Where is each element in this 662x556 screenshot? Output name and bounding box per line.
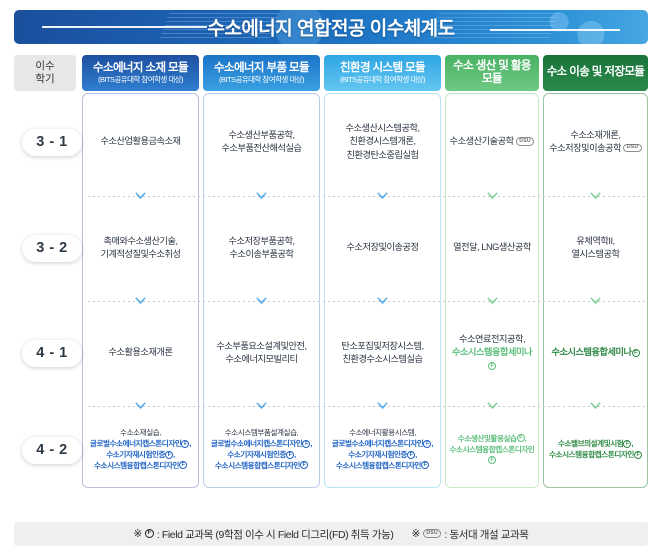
course-name: 수소저장및이송공정 [346,242,418,252]
course-cell-r3-c3: 탄소포집및저장시스템,친환경수소시스템실습 [324,307,441,399]
course-line: 수소생산시스템공학, [345,122,419,135]
course-line: 수소부품요소설계및안전, [216,340,306,353]
module-header-subtitle-1: (BITS공유대학 참여학생 대상) [98,76,183,84]
course-line: 수소산업활용금속소재 [100,135,180,148]
course-name: 기계적성질및수소취성 [100,249,180,259]
course-line: 수소시스템융합캡스톤디자인F [211,461,312,472]
module-header-title-4: 수소 생산 및 활용 모듈 [447,60,537,86]
course-name: 수소생산및활용실습 [458,434,517,443]
course-cell-r2-c2: 수소저장부품공학,수소이송부품공학 [203,202,320,294]
course-name: 수소부품요소설계및안전, [216,341,306,351]
course-cell-r3-c4: 수소연료전지공학,수소시스템융합세미나F [445,307,539,399]
course-cell-r2-c4: 열전달, LNG생산공학 [445,202,539,294]
flow-chevron-icon [590,297,601,306]
row-divider-3 [88,406,648,407]
course-name: 수소시스템융합세미나 [551,347,631,357]
course-name: 수소생산기술공학 [450,136,514,146]
course-name: 수소부품전산해석실습 [221,143,301,153]
flow-chevron-icon [590,192,601,201]
course-line: 수소저장및이송공정 [346,241,418,254]
course-cell-inner: 수소소재실습,글로벌수소에너지캡스톤디자인F,수소기자재시험인증F,수소시스템융… [90,428,191,471]
course-cell-r4-c3: 수소에너지활용시스템,글로벌수소에너지캡스톤디자인F,수소기자재시험인증F,수소… [324,412,441,488]
field-mark-icon: F [517,434,525,442]
course-name: 수소시스템융합캡스톤디자인 [215,461,300,470]
course-line: 친환경시스템개론, [345,135,419,148]
dsu-badge-icon: DSU [516,137,535,145]
course-line: 친환경탄소중립실험 [345,149,419,162]
module-header-subtitle-2: (BITS공유대학 참여학생 대상) [219,76,304,84]
course-name: 촉매와수소생산기술, [103,236,177,246]
course-name: 수소시스템융합캡스톤디자인 [450,445,535,454]
legend-star-1: ※ [133,528,141,540]
course-cell-r4-c4: 수소생산및활용실습F,수소시스템융합캡스톤디자인F [445,412,539,488]
course-cell-inner: 촉매와수소생산기술,기계적성질및수소취성 [100,235,180,261]
legend-field-text: : Field 교과목 (9학점 이수 시 Field 디그리(FD) 취득 가… [157,527,394,542]
course-name: 수소소재실습, [120,428,161,437]
course-line: 수소시스템융합세미나F [448,346,536,372]
course-name: 수소에너지모빌리티 [225,354,297,364]
row-divider-1 [88,196,648,197]
semester-pill-3-1: 3 - 1 [22,129,82,156]
course-name: 수소시스템융합캡스톤디자인 [94,461,179,470]
semester-header-cell: 이수 학기 [14,55,76,91]
course-line: 수소에너지활용시스템, [332,428,433,439]
course-name: 수소시스템융합세미나 [452,347,532,357]
legend-star-2: ※ [411,528,419,540]
course-cell-inner: 열전달, LNG생산공학 [453,241,531,254]
course-line: 수소연료전지공학, [448,333,536,346]
dsu-badge-icon: DSU [423,529,442,537]
course-cell-inner: 수소시스템융합세미나F [551,346,639,359]
legend-bar: ※ F : Field 교과목 (9학점 이수 시 Field 디그리(FD) … [14,522,648,546]
flow-chevron-icon [256,297,267,306]
field-mark-icon: F [421,461,429,469]
module-header-title-1: 수소에너지 소재 모듈 [93,62,188,75]
module-header-4[interactable]: 수소 생산 및 활용 모듈 [445,55,539,91]
module-header-row: 이수 학기 수소에너지 소재 모듈(BITS공유대학 참여학생 대상)수소에너지… [14,55,648,91]
flow-chevron-icon [135,192,146,201]
course-cell-inner: 수소생산기술공학 DSU [450,135,535,148]
course-name: 글로벌수소에너지캡스톤디자인 [332,439,424,448]
title-banner: 수소에너지 연합전공 이수체계도 [14,10,648,44]
field-mark-icon: F [300,461,308,469]
course-cell-inner: 탄소포집및저장시스템,친환경수소시스템실습 [341,340,423,366]
course-cell-r1-c4: 수소생산기술공학 DSU [445,96,539,188]
course-line: 글로벌수소에너지캡스톤디자인F, [90,439,191,450]
course-cell-r3-c2: 수소부품요소설계및안전,수소에너지모빌리티 [203,307,320,399]
module-header-title-2: 수소에너지 부품 모듈 [214,62,309,75]
field-mark-icon: F [286,451,294,459]
course-line: 친환경수소시스템실습 [341,353,423,366]
course-cell-inner: 수소생산및활용실습F,수소시스템융합캡스톤디자인F [448,434,536,466]
legend-dsu-text: : 동서대 개설 교과목 [444,527,528,542]
course-name: 친환경탄소중립실험 [346,150,418,160]
course-name: 수소에너지활용시스템, [349,428,416,437]
course-line: 수소소재개론, [549,129,642,142]
course-line: 수소시스템융합캡스톤디자인F [90,461,191,472]
course-line: 유체역학II, [571,235,619,248]
course-line: 수소저장부품공학, [228,235,294,248]
semester-header-line1: 이수 [35,60,54,73]
field-mark-icon: F [165,451,173,459]
curriculum-diagram: 수소에너지 연합전공 이수체계도 이수 학기 수소에너지 소재 모듈(BITS공… [0,0,662,556]
course-line: 수소기자재시험인증F, [332,450,433,461]
course-name: 수소소재개론, [570,130,620,140]
course-name: 열시스템공학 [571,249,619,259]
course-cell-r2-c3: 수소저장및이송공정 [324,202,441,294]
course-cell-r1-c3: 수소생산시스템공학,친환경시스템개론,친환경탄소중립실험 [324,96,441,188]
flow-chevron-icon [487,192,498,201]
flow-chevron-icon [256,402,267,411]
course-cell-r1-c2: 수소생산부품공학,수소부품전산해석실습 [203,96,320,188]
course-cell-r1-c5: 수소소재개론,수소저장및이송공학 DSU [543,96,648,188]
course-name: 친환경시스템개론, [349,136,415,146]
course-line: 탄소포집및저장시스템, [341,340,423,353]
course-name: 수소기자재시험인증 [227,450,286,459]
course-line: 촉매와수소생산기술, [100,235,180,248]
flow-chevron-icon [377,297,388,306]
course-cell-r2-c1: 촉매와수소생산기술,기계적성질및수소취성 [82,202,199,294]
course-name: 수소생산부품공학, [228,130,294,140]
course-line: 수소시스템부품설계실습, [211,428,312,439]
field-mark-icon: F [145,529,154,538]
flow-chevron-icon [377,402,388,411]
course-cell-inner: 수소저장부품공학,수소이송부품공학 [228,235,294,261]
course-cell-inner: 수소시스템부품설계실습,글로벌수소에너지캡스톤디자인F,수소기자재시험인증F,수… [211,428,312,471]
course-comma: , [415,450,417,459]
course-name: 수소산업활용금속소재 [100,136,180,146]
course-name: 수소시스템융합캡스톤디자인 [336,461,421,470]
course-line: 수소시스템융합캡스톤디자인F [448,445,536,467]
course-cell-inner: 유체역학II,열시스템공학 [571,235,619,261]
course-cell-inner: 수소산업활용금속소재 [100,135,180,148]
flow-chevron-icon [487,297,498,306]
field-mark-icon: F [488,456,496,464]
course-line: 수소시스템융합캡스톤디자인F [332,461,433,472]
semester-pill-4-1: 4 - 1 [22,340,82,367]
course-comma: , [294,450,296,459]
course-line: 수소생산및활용실습F, [448,434,536,445]
course-name: 수소시스템부품설계실습, [225,428,299,437]
course-name: 수소저장부품공학, [228,236,294,246]
course-line: 글로벌수소에너지캡스톤디자인F, [332,439,433,450]
course-line: 수소기자재시험인증F, [211,450,312,461]
course-name: 탄소포집및저장시스템, [341,341,423,351]
course-comma: , [173,450,175,459]
course-cell-inner: 수소생산부품공학,수소부품전산해석실습 [221,129,301,155]
course-cell-inner: 수소밸브의설계및시험F,수소시스템융합캡스톤디자인F [549,439,642,461]
course-cell-r4-c1: 수소소재실습,글로벌수소에너지캡스톤디자인F,수소기자재시험인증F,수소시스템융… [82,412,199,488]
module-header-5[interactable]: 수소 이송 및 저장모듈 [543,55,648,91]
course-cell-inner: 수소생산시스템공학,친환경시스템개론,친환경탄소중립실험 [345,122,419,161]
field-mark-icon: F [488,362,496,370]
course-line: 수소활용소재개론 [108,346,172,359]
semester-pill-4-2: 4 - 2 [22,437,82,464]
module-header-1[interactable]: 수소에너지 소재 모듈(BITS공유대학 참여학생 대상) [82,55,199,91]
legend-dsu-item: ※ DSU : 동서대 개설 교과목 [411,527,528,542]
course-name: 수소저장및이송공학 [549,143,621,153]
course-name: 글로벌수소에너지캡스톤디자인 [90,439,182,448]
course-cell-r1-c1: 수소산업활용금속소재 [82,96,199,188]
course-name: 열전달, LNG생산공학 [453,242,531,252]
course-line: 수소시스템융합세미나F [551,346,639,359]
course-name: 수소밸브의설계및시험 [558,439,623,448]
course-line: 기계적성질및수소취성 [100,248,180,261]
flow-chevron-icon [590,402,601,411]
course-name: 유체역학II, [576,236,614,246]
flow-chevron-icon [256,192,267,201]
course-name: 수소연료전지공학, [459,334,525,344]
course-name: 수소시스템융합캡스톤디자인 [549,450,634,459]
row-divider-2 [88,301,648,302]
module-header-3[interactable]: 친환경 시스템 모듈(BITS공유대학 참여학생 대상) [324,55,441,91]
module-header-subtitle-3: (BITS공유대학 참여학생 대상) [340,76,425,84]
course-comma: , [525,434,527,443]
course-name: 수소활용소재개론 [108,347,172,357]
course-cell-r3-c1: 수소활용소재개론 [82,307,199,399]
course-name: 수소기자재시험인증 [106,450,165,459]
course-line: 수소기자재시험인증F, [90,450,191,461]
field-mark-icon: F [179,461,187,469]
course-comma: , [189,439,191,448]
course-name: 수소기자재시험인증 [348,450,407,459]
course-line: 수소에너지모빌리티 [216,353,306,366]
course-name: 글로벌수소에너지캡스톤디자인 [211,439,303,448]
field-mark-icon: F [632,349,640,357]
course-line: 수소저장및이송공학 DSU [549,142,642,155]
flow-chevron-icon [377,192,388,201]
course-name: 수소이송부품공학 [229,249,293,259]
course-line: 수소생산기술공학 DSU [450,135,535,148]
course-line: 열시스템공학 [571,248,619,261]
module-header-title-3: 친환경 시스템 모듈 [340,62,425,75]
course-name: 수소생산시스템공학, [345,123,419,133]
course-cell-r4-c2: 수소시스템부품설계실습,글로벌수소에너지캡스톤디자인F,수소기자재시험인증F,수… [203,412,320,488]
course-cell-inner: 수소소재개론,수소저장및이송공학 DSU [549,129,642,155]
field-mark-icon: F [634,451,642,459]
course-name: 친환경수소시스템실습 [342,354,422,364]
course-cell-r3-c5: 수소시스템융합세미나F [543,307,648,399]
course-line: 수소이송부품공학 [228,248,294,261]
course-comma: , [431,439,433,448]
field-mark-icon: F [407,451,415,459]
flow-chevron-icon [487,402,498,411]
course-cell-inner: 수소연료전지공학,수소시스템융합세미나F [448,333,536,372]
course-line: 수소시스템융합캡스톤디자인F [549,450,642,461]
course-line: 수소소재실습, [90,428,191,439]
module-header-title-5: 수소 이송 및 저장모듈 [547,66,645,79]
course-cell-inner: 수소저장및이송공정 [346,241,418,254]
flow-chevron-icon [135,402,146,411]
course-cell-inner: 수소부품요소설계및안전,수소에너지모빌리티 [216,340,306,366]
module-header-2[interactable]: 수소에너지 부품 모듈(BITS공유대학 참여학생 대상) [203,55,320,91]
course-line: 열전달, LNG생산공학 [453,241,531,254]
course-line: 수소부품전산해석실습 [221,142,301,155]
dsu-badge-icon: DSU [623,144,642,152]
course-cell-inner: 수소활용소재개론 [108,346,172,359]
course-cell-inner: 수소에너지활용시스템,글로벌수소에너지캡스톤디자인F,수소기자재시험인증F,수소… [332,428,433,471]
legend-field-item: ※ F : Field 교과목 (9학점 이수 시 Field 디그리(FD) … [133,527,393,542]
course-cell-r2-c5: 유체역학II,열시스템공학 [543,202,648,294]
course-line: 수소밸브의설계및시험F, [549,439,642,450]
course-cell-r4-c5: 수소밸브의설계및시험F,수소시스템융합캡스톤디자인F [543,412,648,488]
course-comma: , [631,439,633,448]
course-line: 수소생산부품공학, [221,129,301,142]
course-line: 글로벌수소에너지캡스톤디자인F, [211,439,312,450]
semester-header-line2: 학기 [35,73,54,86]
semester-pill-3-2: 3 - 2 [22,235,82,262]
course-comma: , [310,439,312,448]
flow-chevron-icon [135,297,146,306]
page-title: 수소에너지 연합전공 이수체계도 [14,14,648,41]
